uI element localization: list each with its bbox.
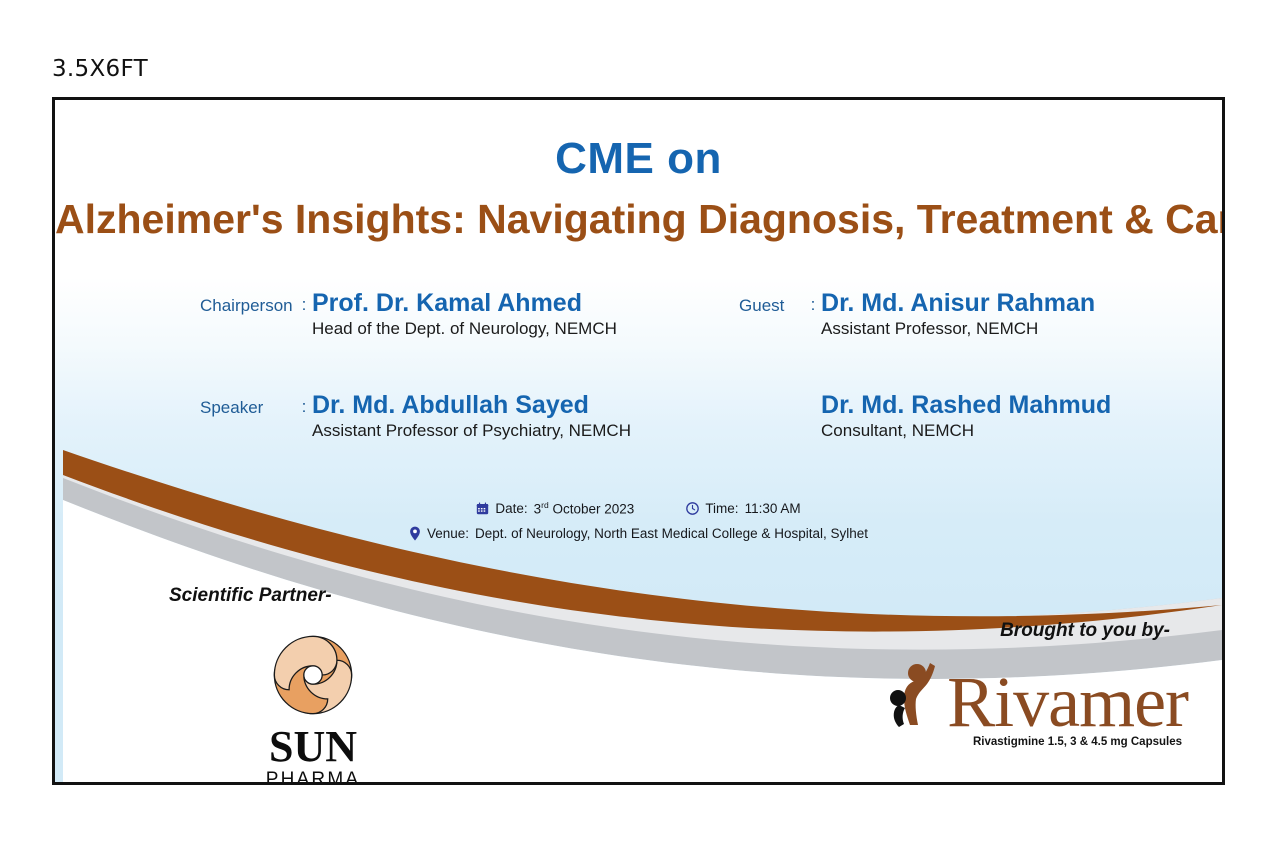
- sun-pharma-wordmark: SUN: [269, 725, 357, 768]
- person-separator: :: [805, 290, 821, 315]
- location-pin-icon: [409, 526, 421, 541]
- people-section: Chairperson : Prof. Dr. Kamal Ahmed Head…: [55, 290, 1222, 441]
- person-speaker: Speaker : Dr. Md. Abdullah Sayed Assista…: [200, 392, 677, 441]
- event-time-label: Time:: [705, 501, 738, 516]
- event-time-value: 11:30 AM: [745, 501, 801, 516]
- person-name: Prof. Dr. Kamal Ahmed: [312, 290, 617, 317]
- poster-title: Alzheimer's Insights: Navigating Diagnos…: [55, 196, 1222, 243]
- person-details: Dr. Md. Rashed Mahmud Consultant, NEMCH: [821, 392, 1111, 441]
- rivamer-logo: Rivamer: [828, 656, 1188, 734]
- calendar-icon: [476, 502, 489, 515]
- sponsor-block: Brought to you by- Rivamer Rivastigmine …: [828, 620, 1188, 748]
- scientific-partner-block: Scientific Partner- SUN PHARMA: [163, 585, 463, 785]
- people-column-left: Chairperson : Prof. Dr. Kamal Ahmed Head…: [55, 290, 677, 339]
- person-designation: Consultant, NEMCH: [821, 421, 1111, 441]
- person-name: Dr. Md. Rashed Mahmud: [821, 392, 1111, 419]
- scientific-partner-kicker: Scientific Partner-: [163, 585, 463, 607]
- people-row: Chairperson : Prof. Dr. Kamal Ahmed Head…: [55, 290, 1222, 339]
- person-name: Dr. Md. Abdullah Sayed: [312, 392, 631, 419]
- rivamer-tagline: Rivastigmine 1.5, 3 & 4.5 mg Capsules: [828, 736, 1188, 748]
- person-role-label: Chairperson: [200, 290, 296, 316]
- poster-frame: CME on Alzheimer's Insights: Navigating …: [52, 97, 1225, 785]
- people-column-right: Dr. Md. Rashed Mahmud Consultant, NEMCH: [677, 392, 1222, 441]
- person-consultant: Dr. Md. Rashed Mahmud Consultant, NEMCH: [739, 392, 1222, 441]
- clock-icon: [686, 502, 699, 515]
- people-column-right: Guest : Dr. Md. Anisur Rahman Assistant …: [677, 290, 1222, 339]
- person-designation: Assistant Professor, NEMCH: [821, 319, 1095, 339]
- person-role-label: Speaker: [200, 392, 296, 418]
- poster-subtitle-cme: CME on: [55, 134, 1222, 184]
- person-details: Prof. Dr. Kamal Ahmed Head of the Dept. …: [312, 290, 617, 339]
- person-designation: Assistant Professor of Psychiatry, NEMCH: [312, 421, 631, 441]
- sun-pharma-mark-icon: [267, 629, 359, 721]
- people-column-left: Speaker : Dr. Md. Abdullah Sayed Assista…: [55, 392, 677, 441]
- artboard-size-caption: 3.5X6FT: [52, 56, 148, 82]
- event-venue-label: Venue:: [427, 526, 469, 541]
- person-separator: :: [296, 392, 312, 417]
- event-venue-row: Venue: Dept. of Neurology, North East Me…: [55, 526, 1222, 541]
- sun-pharma-subword: PHARMA: [266, 769, 361, 785]
- event-time: Time: 11:30 AM: [686, 501, 800, 516]
- person-name: Dr. Md. Anisur Rahman: [821, 290, 1095, 317]
- people-row: Speaker : Dr. Md. Abdullah Sayed Assista…: [55, 392, 1222, 441]
- event-date-label: Date:: [495, 501, 527, 516]
- event-date: Date: 3rd October 2023: [476, 500, 634, 517]
- sun-pharma-logo: SUN PHARMA: [163, 629, 463, 785]
- event-venue-value: Dept. of Neurology, North East Medical C…: [475, 526, 868, 541]
- title-block: CME on Alzheimer's Insights: Navigating …: [55, 134, 1222, 243]
- person-details: Dr. Md. Abdullah Sayed Assistant Profess…: [312, 392, 631, 441]
- person-designation: Head of the Dept. of Neurology, NEMCH: [312, 319, 617, 339]
- person-details: Dr. Md. Anisur Rahman Assistant Professo…: [821, 290, 1095, 339]
- event-details: Date: 3rd October 2023 Time: 11:30 AM: [55, 500, 1222, 541]
- person-guest: Guest : Dr. Md. Anisur Rahman Assistant …: [739, 290, 1222, 339]
- person-chairperson: Chairperson : Prof. Dr. Kamal Ahmed Head…: [200, 290, 677, 339]
- event-date-value: 3rd October 2023: [534, 500, 635, 517]
- rivamer-wordmark: Rivamer: [947, 672, 1188, 734]
- rivamer-figures-icon: [885, 656, 947, 728]
- event-date-time-row: Date: 3rd October 2023 Time: 11:30 AM: [55, 500, 1222, 517]
- sponsor-kicker: Brought to you by-: [828, 620, 1188, 642]
- person-separator: :: [296, 290, 312, 315]
- person-role-label: Guest: [739, 290, 805, 316]
